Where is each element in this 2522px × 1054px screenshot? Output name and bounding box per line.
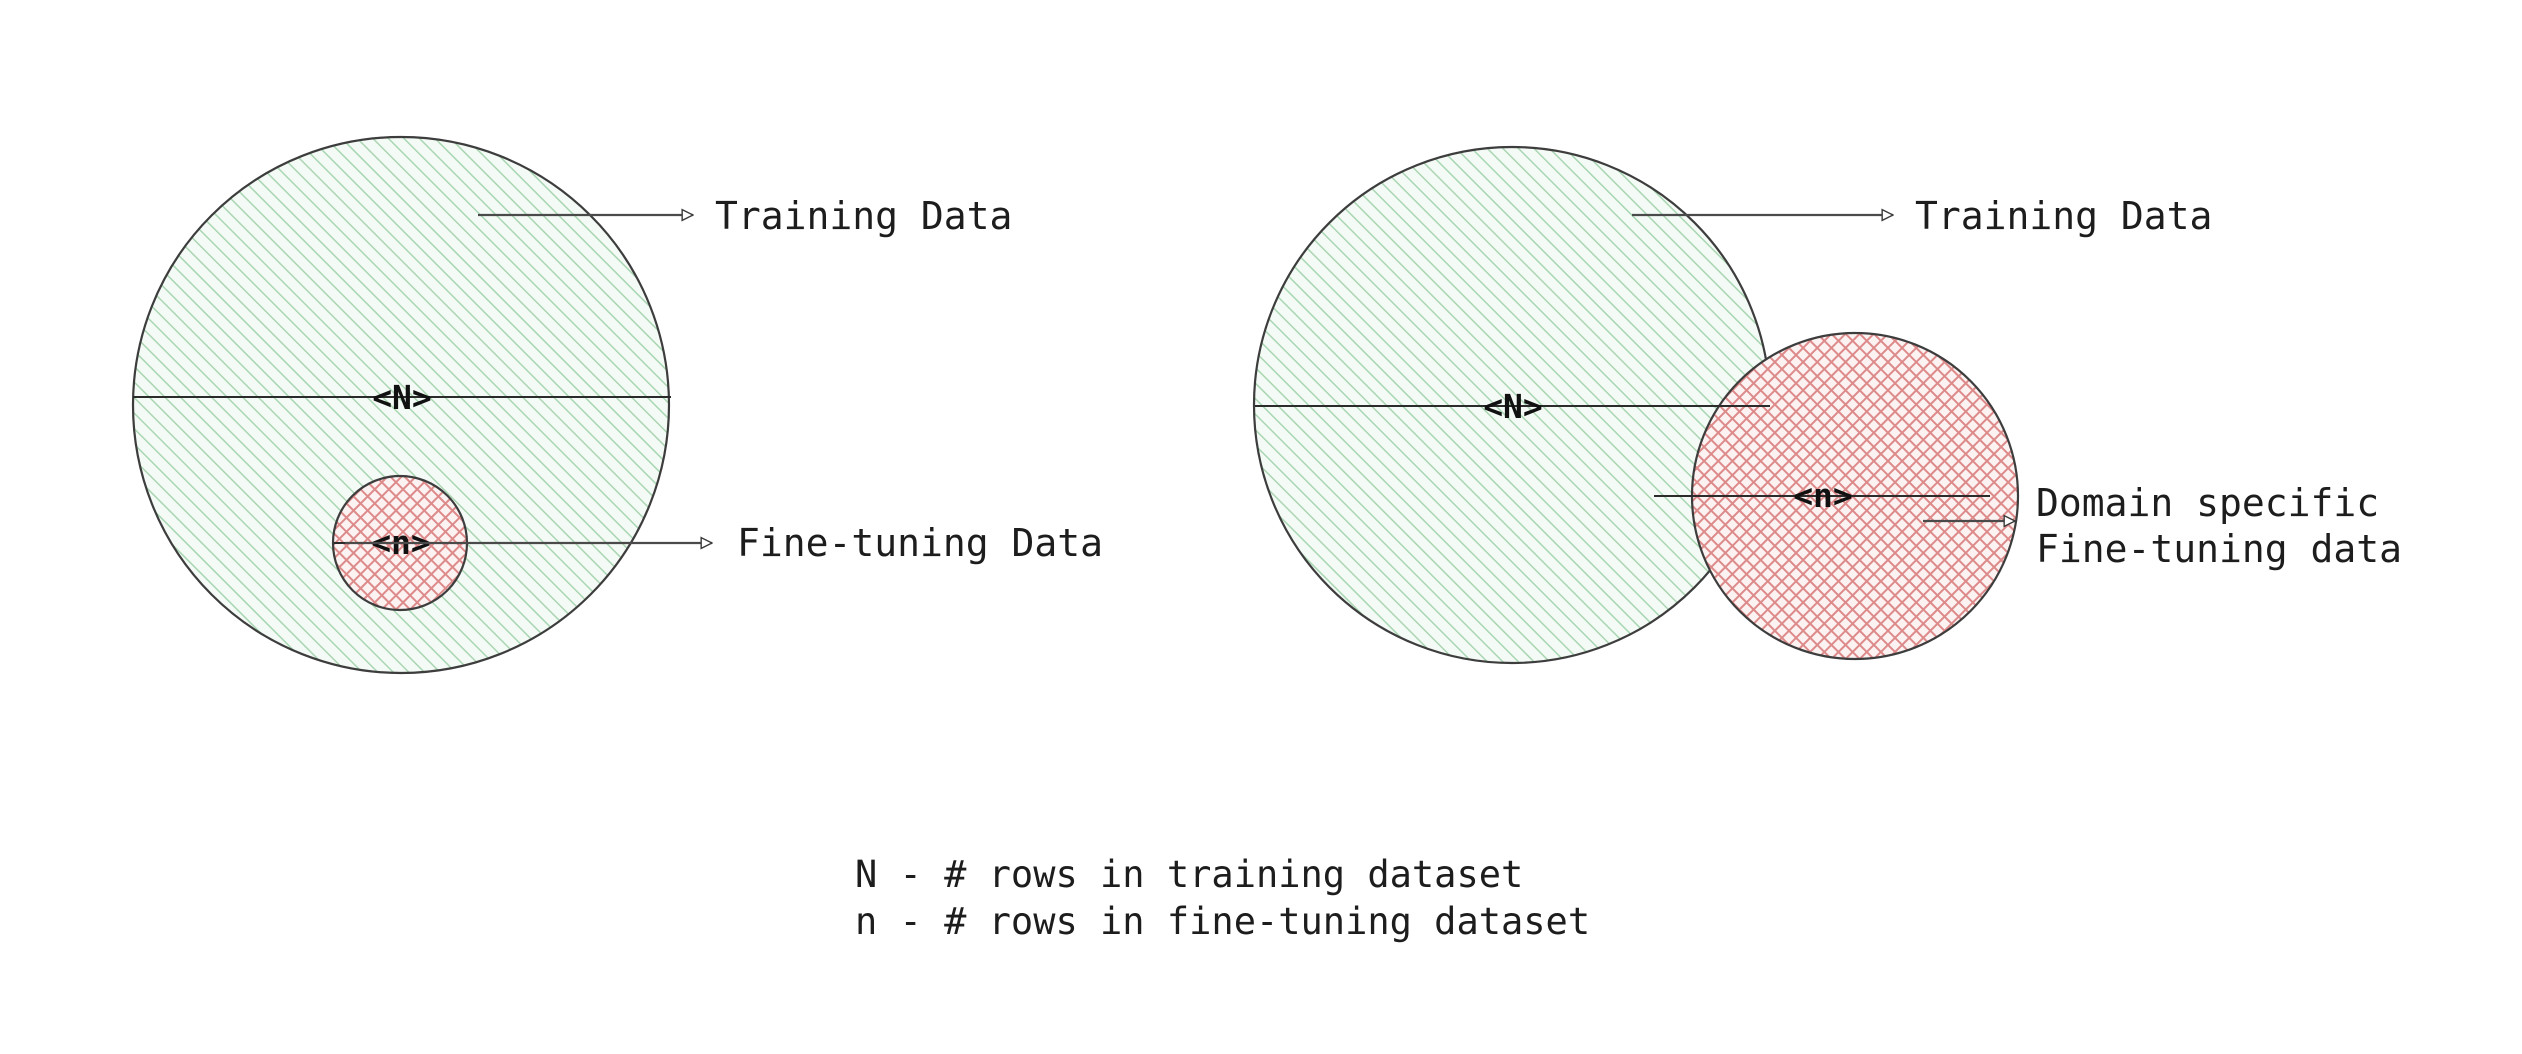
right-N-inline-label: <N> (1483, 387, 1543, 426)
left-N-inline-label: <N> (372, 378, 432, 417)
right-n-inline-label: <n> (1793, 476, 1853, 515)
legend-line-n: n - # rows in fine-tuning dataset (855, 900, 1590, 943)
right-domain-fine-tuning-label-line1: Domain specific (2036, 481, 2379, 525)
set-diagram-svg: <N> <n> Training Data Fine-tuning Data <… (0, 0, 2522, 1054)
left-training-data-label: Training Data (715, 194, 1012, 238)
legend: N - # rows in training dataset n - # row… (855, 853, 1590, 943)
left-fine-tuning-label: Fine-tuning Data (737, 521, 1103, 565)
right-training-data-label: Training Data (1915, 194, 2212, 238)
panel-right: <N> <n> Training Data Domain specific Fi… (1254, 147, 2402, 663)
right-domain-fine-tuning-label-line2: Fine-tuning data (2036, 527, 2402, 571)
legend-line-N: N - # rows in training dataset (855, 853, 1523, 896)
panel-left: <N> <n> Training Data Fine-tuning Data (133, 137, 1103, 673)
diagram-canvas: <N> <n> Training Data Fine-tuning Data <… (0, 0, 2522, 1054)
